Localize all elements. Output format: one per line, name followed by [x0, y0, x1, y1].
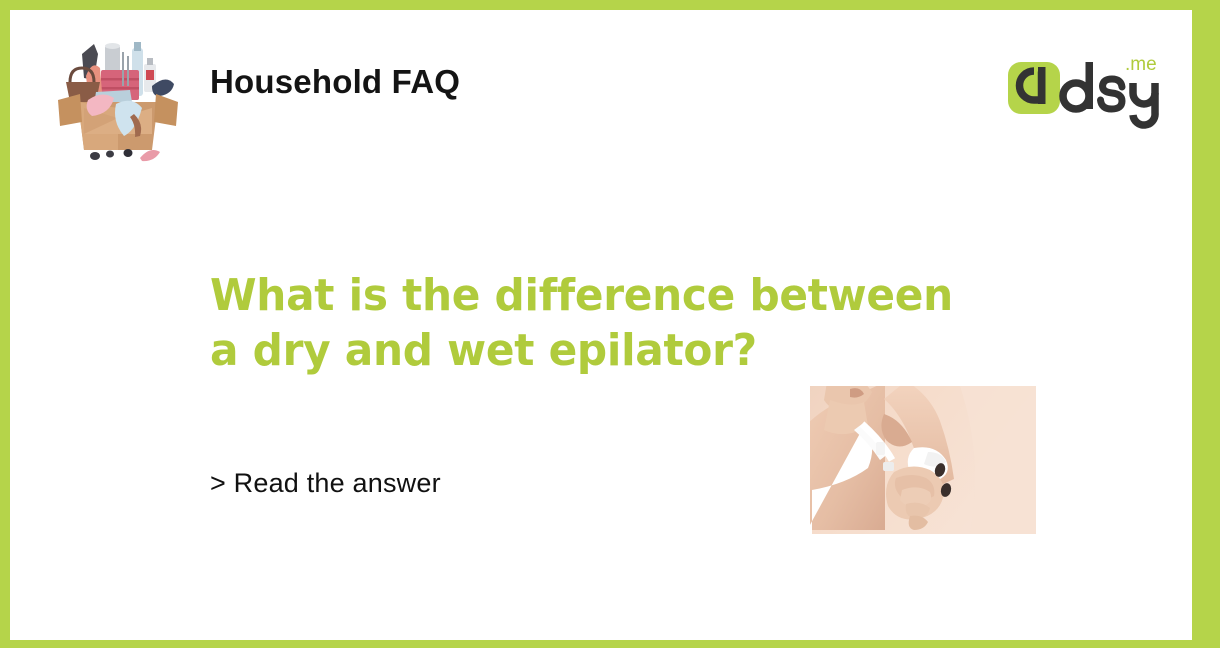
headline-line-2: a dry and wet epilator?	[210, 323, 1074, 378]
adsy-logo[interactable]: .me	[990, 40, 1165, 135]
epilator-photo	[810, 386, 1036, 534]
headline-line-1: What is the difference between	[210, 268, 1074, 323]
household-box-illustration-icon	[48, 30, 188, 165]
question-headline: What is the difference between a dry and…	[210, 268, 1074, 379]
page-title: Household FAQ	[210, 65, 460, 98]
page-header: Household FAQ .me	[10, 10, 1192, 160]
svg-text:.me: .me	[1125, 54, 1157, 75]
read-the-answer-link[interactable]: > Read the answer	[210, 468, 441, 499]
content-card: Household FAQ .me What is the d	[10, 10, 1192, 640]
